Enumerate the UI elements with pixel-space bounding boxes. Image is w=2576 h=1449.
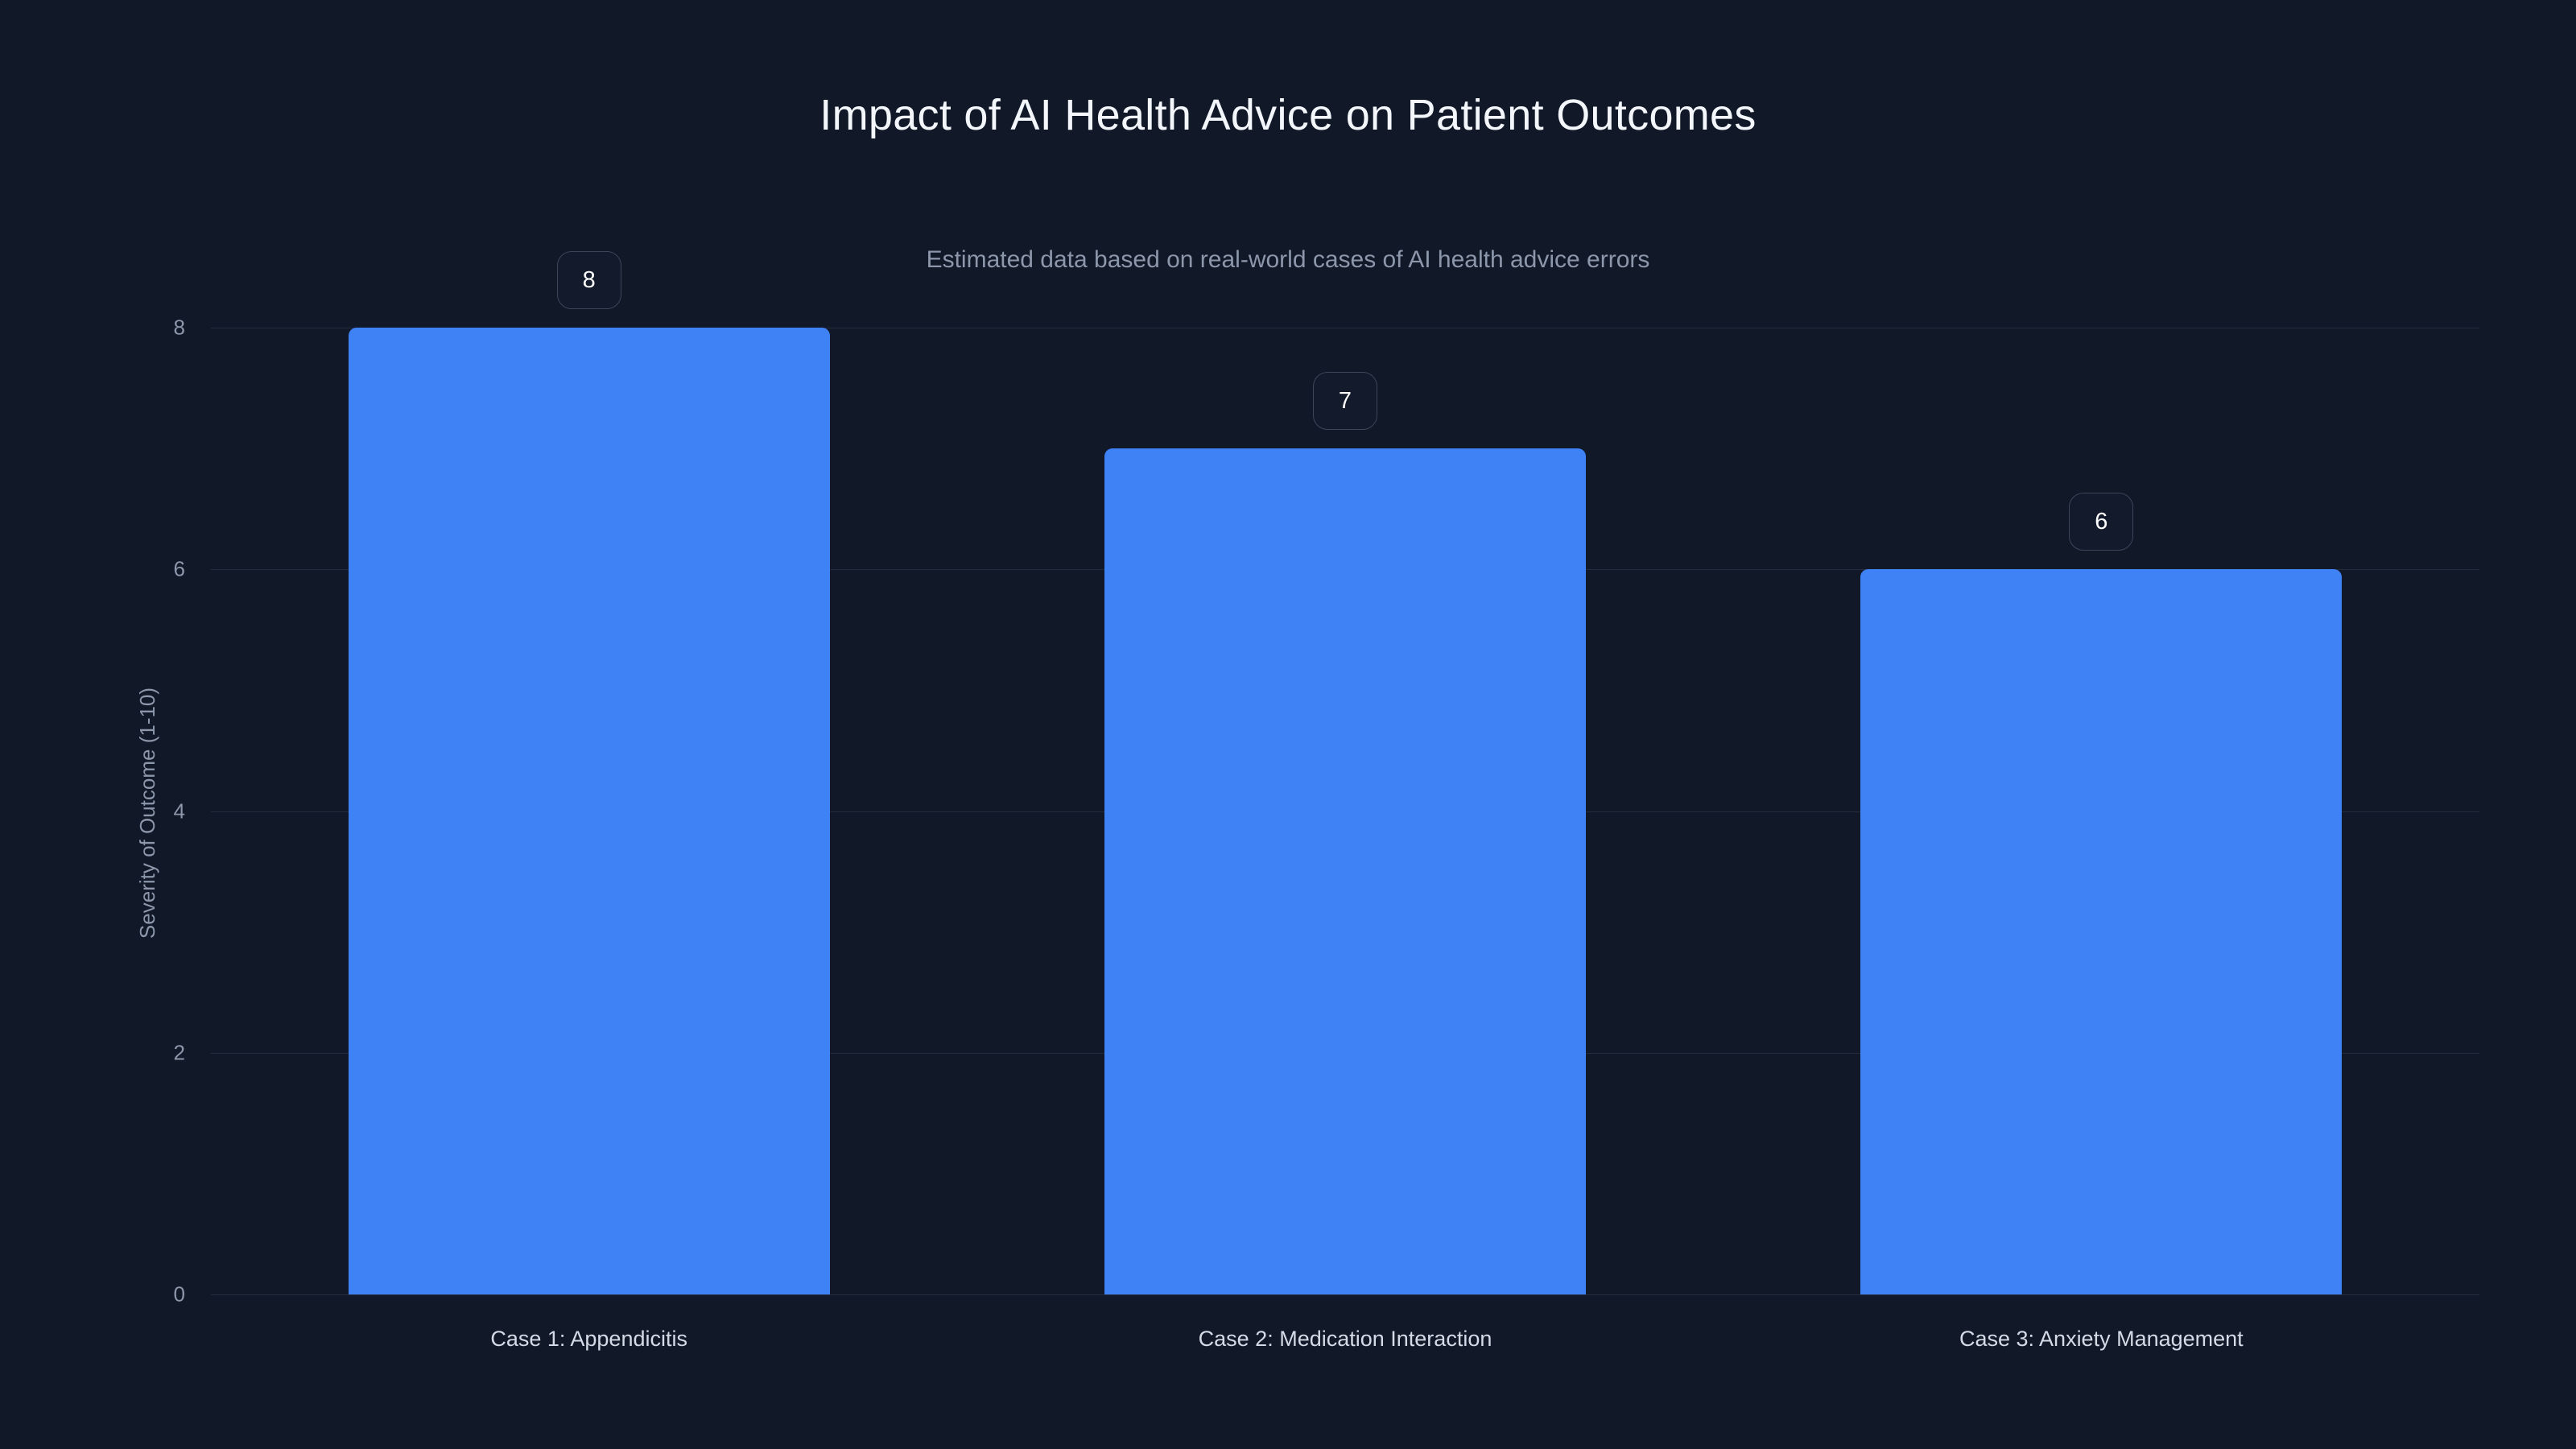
y-axis-tick-label: 0 [24,1282,185,1307]
chart-title: Impact of AI Health Advice on Patient Ou… [0,90,2576,140]
bar-value-badge: 6 [2069,493,2133,551]
bar[interactable] [1104,448,1586,1294]
bar-value-badge: 7 [1313,372,1377,430]
y-axis-tick-label: 4 [24,799,185,824]
gridline [211,1294,2479,1295]
y-axis-tick-label: 2 [24,1040,185,1065]
bar[interactable] [349,328,830,1294]
chart-subtitle: Estimated data based on real-world cases… [0,246,2576,274]
x-axis-tick-label: Case 1: Appendicitis [490,1327,687,1352]
plot-area [211,328,2479,1294]
bar-value-badge: 8 [557,251,621,309]
y-axis-tick-label: 6 [24,557,185,582]
bar[interactable] [1860,569,2342,1294]
x-axis-tick-label: Case 3: Anxiety Management [1959,1327,2244,1352]
bar-chart: Impact of AI Health Advice on Patient Ou… [0,0,2576,1449]
x-axis-tick-label: Case 2: Medication Interaction [1199,1327,1492,1352]
y-axis-tick-label: 8 [24,316,185,341]
